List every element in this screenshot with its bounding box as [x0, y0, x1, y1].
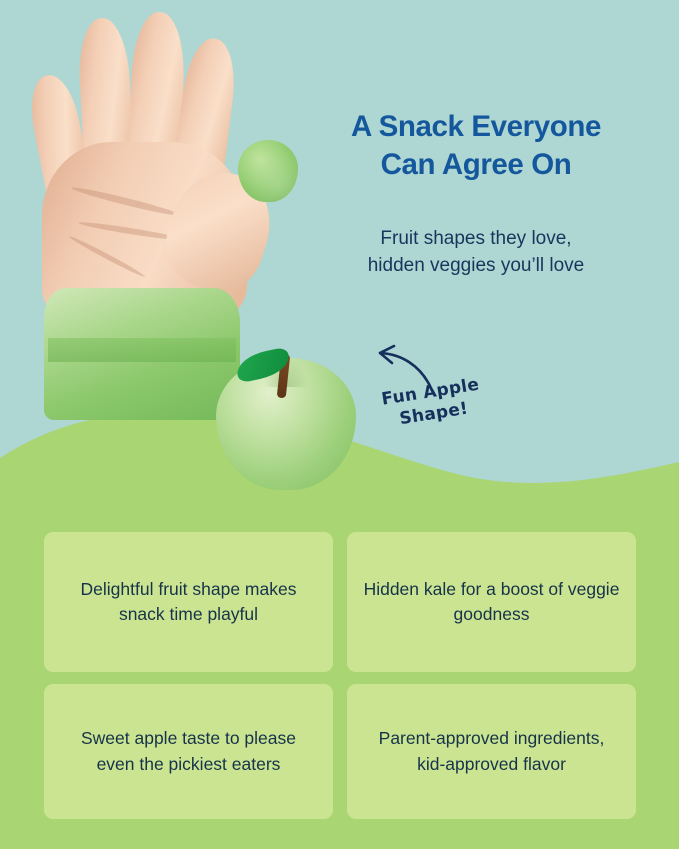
palm-crease: [68, 234, 146, 279]
held-apple-snack: [238, 140, 298, 202]
subtitle-line-2: hidden veggies you’ll love: [296, 253, 656, 280]
subtitle: Fruit shapes they love, hidden veggies y…: [296, 226, 656, 280]
sleeve-cuff-band: [48, 338, 236, 362]
subtitle-line-1: Fruit shapes they love,: [296, 226, 656, 253]
product-infographic: Fun Apple Shape! A Snack Everyone Can Ag…: [0, 0, 679, 849]
benefit-card: Parent-approved ingredients, kid-approve…: [347, 684, 636, 819]
benefit-text: Delightful fruit shape makes snack time …: [60, 577, 317, 628]
benefit-text: Parent-approved ingredients, kid-approve…: [363, 726, 620, 777]
apple-snack-illustration: [216, 330, 356, 490]
page-title: A Snack Everyone Can Agree On: [296, 108, 656, 184]
benefit-text: Sweet apple taste to please even the pic…: [60, 726, 317, 777]
palm-crease: [71, 185, 181, 219]
benefit-card: Delightful fruit shape makes snack time …: [44, 532, 333, 672]
benefit-card: Sweet apple taste to please even the pic…: [44, 684, 333, 819]
benefit-text: Hidden kale for a boost of veggie goodne…: [363, 577, 620, 628]
benefit-card-grid: Delightful fruit shape makes snack time …: [44, 532, 636, 819]
headline-line-1: A Snack Everyone: [296, 108, 656, 146]
headline-line-2: Can Agree On: [296, 146, 656, 184]
benefit-card: Hidden kale for a boost of veggie goodne…: [347, 532, 636, 672]
